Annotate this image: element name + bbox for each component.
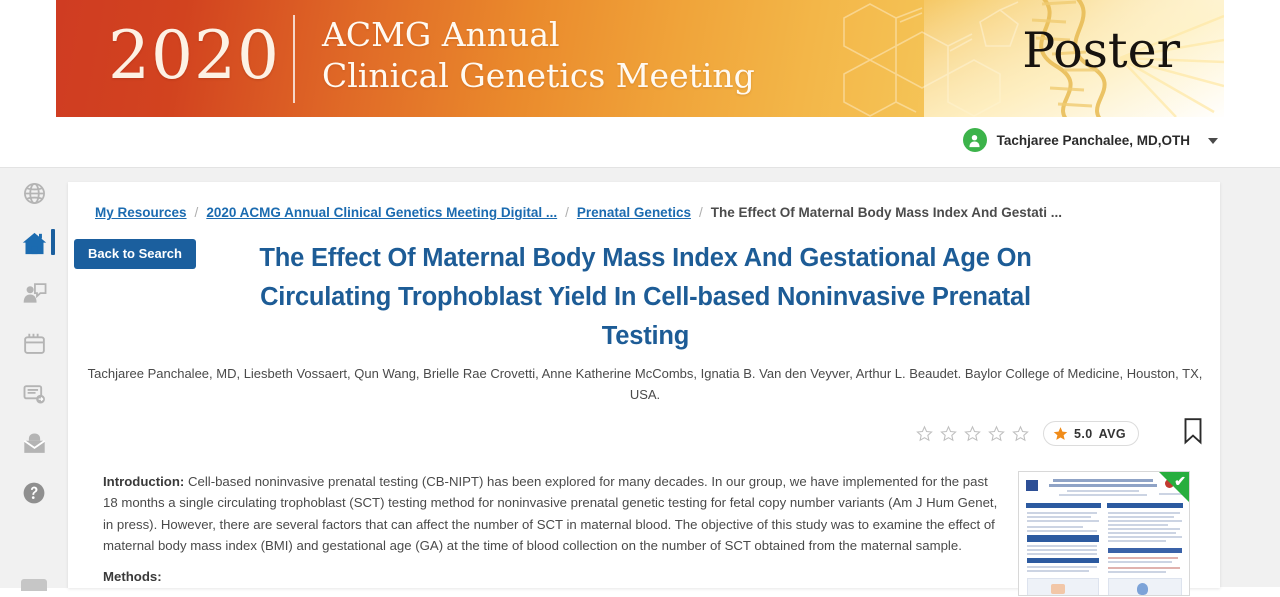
star-icon[interactable] <box>988 425 1005 442</box>
breadcrumb-separator: / <box>699 205 703 220</box>
star-icon[interactable] <box>940 425 957 442</box>
star-icon <box>1053 426 1068 441</box>
abstract-section-label: Methods: <box>103 569 162 584</box>
star-icon[interactable] <box>964 425 981 442</box>
breadcrumb-item-current: The Effect Of Maternal Body Mass Index A… <box>711 205 1062 220</box>
active-indicator <box>51 229 55 255</box>
user-icon-glyph <box>967 133 982 148</box>
poster-thumbnail[interactable]: ✔ <box>1018 471 1190 596</box>
user-chat-icon <box>22 281 47 306</box>
breadcrumb-item-meeting[interactable]: 2020 ACMG Annual Clinical Genetics Meeti… <box>206 205 557 220</box>
abstract-paragraph-intro: Introduction: Cell-based noninvasive pre… <box>103 471 1006 556</box>
breadcrumb-separator: / <box>195 205 199 220</box>
article-detail-card: My Resources / 2020 ACMG Annual Clinical… <box>68 182 1220 588</box>
chevron-down-icon[interactable] <box>1208 138 1218 144</box>
banner-meeting-line1: ACMG Annual <box>322 15 560 54</box>
globe-icon <box>22 181 47 206</box>
sidebar-item-community[interactable] <box>0 268 68 318</box>
sidebar-item-inbox[interactable] <box>0 418 68 468</box>
banner-type-label: Poster <box>1022 22 1180 79</box>
average-rating-badge: 5.0 AVG <box>1043 421 1139 446</box>
bookmark-icon[interactable] <box>1181 417 1205 450</box>
user-menu[interactable]: Tachjaree Panchalee, MD,OTH <box>963 128 1218 152</box>
bookmark-icon-glyph <box>1181 417 1205 445</box>
sidebar-item-globe[interactable] <box>0 168 68 218</box>
abstract-body: Introduction: Cell-based noninvasive pre… <box>103 471 1006 597</box>
user-icon <box>963 128 987 152</box>
breadcrumb-item-category[interactable]: Prenatal Genetics <box>577 205 691 220</box>
sidebar-item-home[interactable] <box>0 218 68 268</box>
sidebar-item-resources[interactable] <box>0 368 68 418</box>
envelope-icon <box>22 431 47 456</box>
abstract-section-label: Introduction: <box>103 474 184 489</box>
abstract-intro-text: Cell-based noninvasive prenatal testing … <box>103 474 997 553</box>
star-icon[interactable] <box>916 425 933 442</box>
page-title: The Effect Of Maternal Body Mass Index A… <box>248 239 1043 356</box>
calendar-icon <box>22 331 47 356</box>
sidebar-item-partial[interactable] <box>21 579 47 591</box>
breadcrumb-separator: / <box>565 205 569 220</box>
breadcrumb: My Resources / 2020 ACMG Annual Clinical… <box>95 205 1062 220</box>
sidebar-item-help[interactable] <box>0 468 68 518</box>
question-mark-icon <box>21 480 47 506</box>
banner-divider <box>293 15 295 103</box>
rating-row: 5.0 AVG <box>916 417 1205 450</box>
home-icon <box>21 230 48 257</box>
star-rating-input[interactable] <box>916 425 1029 442</box>
average-rating-suffix: AVG <box>1099 427 1126 441</box>
user-bar: Tachjaree Panchalee, MD,OTH <box>0 117 1280 167</box>
breadcrumb-item-my-resources[interactable]: My Resources <box>95 205 187 220</box>
back-to-search-button[interactable]: Back to Search <box>74 239 196 269</box>
star-icon[interactable] <box>1012 425 1029 442</box>
abstract-paragraph-methods: Methods: <box>103 566 1006 587</box>
document-icon <box>22 381 47 406</box>
banner-region: 2020 ACMG Annual Clinical Genetics Meeti… <box>0 0 1280 118</box>
banner-meeting-name: ACMG Annual Clinical Genetics Meeting <box>322 14 755 96</box>
authors-affiliation: Tachjaree Panchalee, MD, Liesbeth Vossae… <box>80 363 1210 405</box>
check-icon: ✔ <box>1174 474 1186 488</box>
banner-meeting-line2: Clinical Genetics Meeting <box>322 56 755 95</box>
conference-banner: 2020 ACMG Annual Clinical Genetics Meeti… <box>56 0 1224 117</box>
sidebar-item-calendar[interactable] <box>0 318 68 368</box>
average-rating-value: 5.0 <box>1074 427 1093 441</box>
left-sidebar <box>0 168 68 588</box>
banner-year: 2020 <box>108 6 280 106</box>
page-body: My Resources / 2020 ACMG Annual Clinical… <box>0 167 1280 587</box>
user-name-label: Tachjaree Panchalee, MD,OTH <box>997 133 1190 148</box>
